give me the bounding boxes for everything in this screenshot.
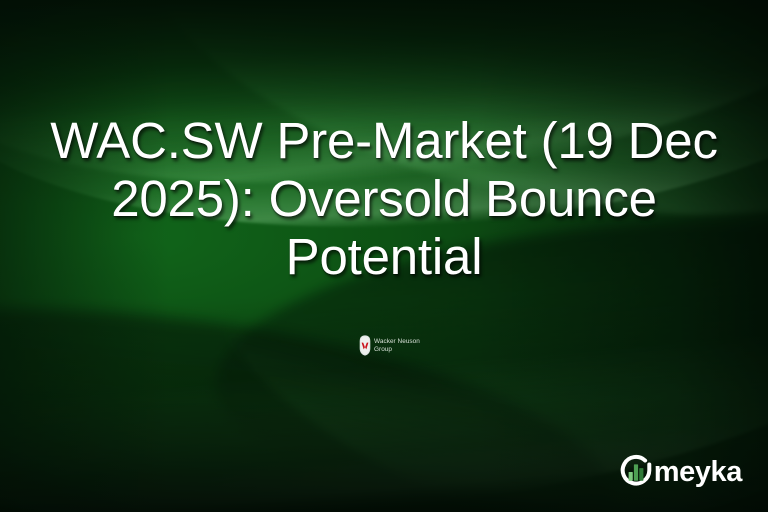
company-logo-line-2: Group [374,346,420,354]
company-logo-text: Wacker Neuson Group [374,338,420,353]
company-logo: Wacker Neuson Group [359,335,420,356]
meyka-brand-logo[interactable]: meyka [617,452,746,490]
article-banner: WAC.SW Pre-Market (19 Dec 2025): Oversol… [0,0,768,512]
meyka-circle-bar-chart-icon [617,452,655,490]
meyka-wordmark: meyka [654,458,742,487]
company-logo-line-1: Wacker Neuson [374,338,420,346]
wacker-neuson-shield-icon [359,335,371,356]
banner-title: WAC.SW Pre-Market (19 Dec 2025): Oversol… [40,112,728,286]
